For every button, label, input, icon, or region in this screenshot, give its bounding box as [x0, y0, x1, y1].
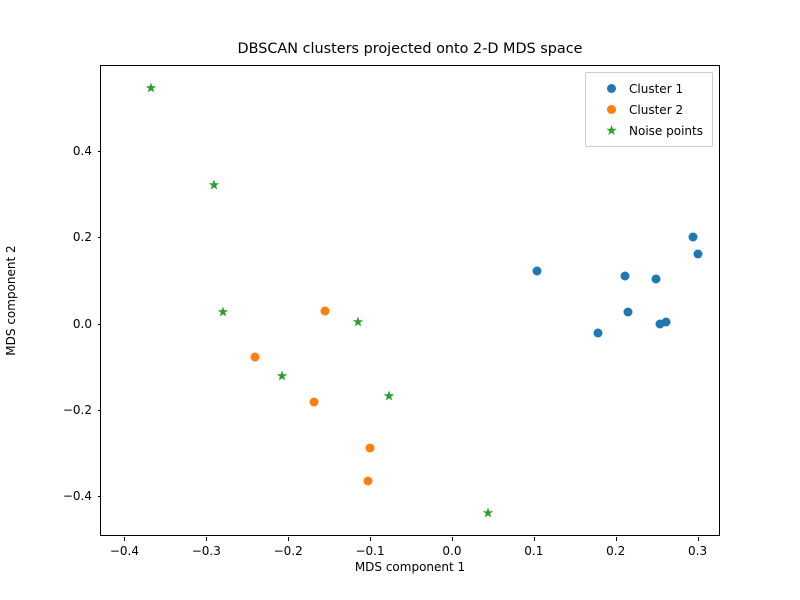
data-point	[208, 179, 219, 190]
x-tick-mark	[616, 537, 617, 541]
data-point	[251, 353, 260, 362]
y-tick-label: 0.2	[73, 230, 92, 244]
x-tick-mark	[534, 537, 535, 541]
data-point	[693, 250, 702, 259]
legend-label: Cluster 2	[629, 103, 683, 117]
legend-item[interactable]: Cluster 2	[593, 99, 703, 120]
x-tick-mark	[288, 537, 289, 541]
y-tick-mark	[98, 151, 102, 152]
y-tick-mark	[98, 324, 102, 325]
data-point	[651, 274, 660, 283]
x-tick-label: −0.4	[110, 544, 139, 558]
x-tick-mark	[698, 537, 699, 541]
legend: Cluster 1Cluster 2Noise points	[585, 72, 713, 147]
legend-item[interactable]: Cluster 1	[593, 78, 703, 99]
plot-axes-area: −0.4−0.3−0.2−0.10.00.10.20.3 −0.4−0.20.0…	[100, 65, 720, 536]
y-tick-mark	[98, 237, 102, 238]
data-point	[276, 371, 287, 382]
data-point	[593, 328, 602, 337]
data-point	[689, 233, 698, 242]
x-tick-label: −0.3	[192, 544, 221, 558]
legend-star-icon	[593, 125, 629, 136]
y-tick-label: −0.2	[63, 403, 92, 417]
x-tick-label: 0.1	[524, 544, 543, 558]
x-tick-label: 0.3	[688, 544, 707, 558]
x-tick-label: −0.2	[274, 544, 303, 558]
legend-label: Noise points	[629, 124, 703, 138]
data-point	[623, 308, 632, 317]
data-point	[482, 507, 493, 518]
y-tick-mark	[98, 496, 102, 497]
x-tick-mark	[370, 537, 371, 541]
data-point	[145, 82, 156, 93]
data-point	[217, 306, 228, 317]
y-tick-label: −0.4	[63, 489, 92, 503]
data-point	[366, 444, 375, 453]
legend-label: Cluster 1	[629, 82, 683, 96]
chart-title: DBSCAN clusters projected onto 2-D MDS s…	[100, 40, 720, 58]
legend-dot-icon	[593, 84, 629, 93]
data-point	[620, 272, 629, 281]
matplotlib-figure: DBSCAN clusters projected onto 2-D MDS s…	[0, 0, 800, 600]
x-tick-label: 0.2	[606, 544, 625, 558]
legend-item[interactable]: Noise points	[593, 120, 703, 141]
y-axis-label: MDS component 2	[0, 65, 22, 536]
y-tick-mark	[98, 410, 102, 411]
data-point	[321, 307, 330, 316]
data-point	[310, 398, 319, 407]
data-point	[662, 318, 671, 327]
x-tick-mark	[206, 537, 207, 541]
data-point	[352, 316, 363, 327]
y-tick-label: 0.4	[73, 144, 92, 158]
x-tick-mark	[452, 537, 453, 541]
x-tick-label: −0.1	[355, 544, 384, 558]
x-axis-label: MDS component 1	[100, 560, 720, 574]
y-tick-label: 0.0	[73, 317, 92, 331]
legend-dot-icon	[593, 105, 629, 114]
x-tick-label: 0.0	[442, 544, 461, 558]
data-point	[533, 266, 542, 275]
x-tick-mark	[124, 537, 125, 541]
data-point	[383, 390, 394, 401]
data-point	[363, 477, 372, 486]
